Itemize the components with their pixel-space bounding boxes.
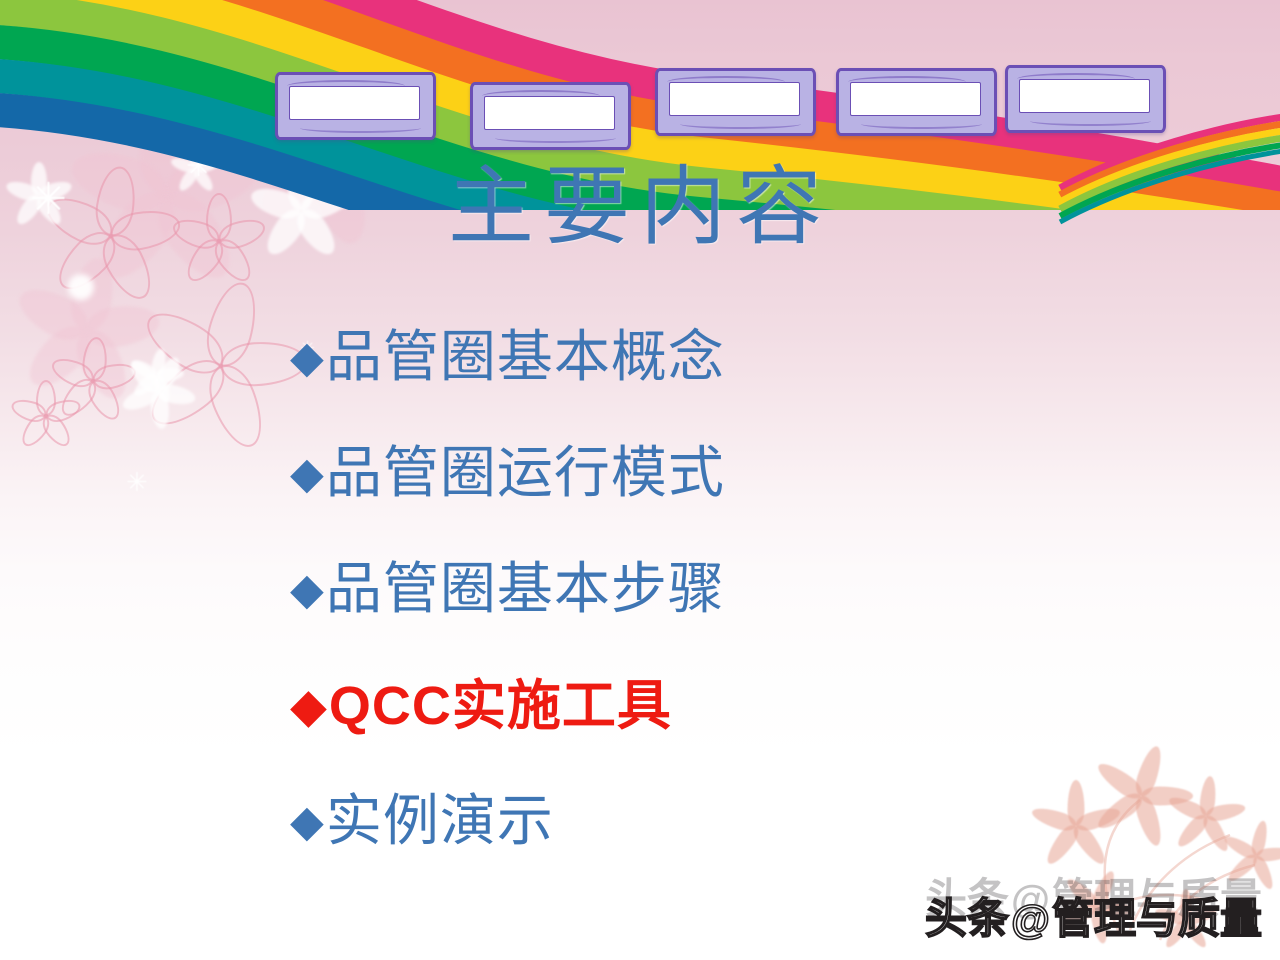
watermark: 头条 @ 管理与质量 (925, 885, 1262, 946)
plaque-3-label (669, 82, 800, 116)
list-item-highlighted[interactable]: ◆ QCC实施工具 (290, 648, 1170, 764)
diamond-bullet-icon: ◆ (290, 568, 324, 612)
plaque-1[interactable] (275, 72, 436, 140)
plaque-grain (300, 123, 421, 133)
list-item-label: QCC实施工具 (329, 678, 672, 735)
sparkle-icon: ● (66, 268, 96, 302)
diamond-bullet-icon: ◆ (290, 336, 324, 380)
plaque-grain (495, 133, 616, 143)
flower-pale-3 (85, 330, 86, 331)
diamond-bullet-icon: ◆ (290, 800, 324, 844)
flower-outline-5 (45, 415, 46, 416)
list-item-label: 品管圈基本概念 (326, 329, 725, 388)
watermark-account: 管理与质量 (1052, 885, 1262, 946)
presentation-slide: ✳ ✳ ✳ ✳ ✳ ✳ ● (0, 0, 1280, 960)
flower-white-4 (157, 390, 158, 391)
list-item-label: 品管圈基本步骤 (326, 561, 725, 620)
plaque-4[interactable] (836, 68, 997, 136)
content-list: ◆ 品管圈基本概念 ◆ 品管圈运行模式 ◆ 品管圈基本步骤 ◆ QCC实施工具 … (290, 300, 1170, 880)
plaque-1-label (289, 86, 420, 120)
plaque-5[interactable] (1005, 65, 1166, 133)
watermark-at-icon: @ (1011, 898, 1050, 943)
plaque-4-label (850, 82, 981, 116)
plaque-5-label (1019, 79, 1150, 113)
flower-salmon-4 (1255, 855, 1256, 856)
flower-salmon-3 (1205, 815, 1206, 816)
list-item[interactable]: ◆ 品管圈基本概念 (290, 300, 1170, 416)
list-item[interactable]: ◆ 实例演示 (290, 764, 1170, 880)
plaque-grain (861, 119, 982, 129)
list-item-label: 品管圈运行模式 (326, 445, 725, 504)
watermark-prefix: 头条 (925, 885, 1009, 946)
list-item[interactable]: ◆ 品管圈运行模式 (290, 416, 1170, 532)
plaque-3[interactable] (655, 68, 816, 136)
diamond-bullet-icon: ◆ (290, 452, 324, 496)
page-title: 主要内容 (0, 162, 1280, 252)
diamond-bullet-icon: ◆ (290, 682, 327, 730)
flower-white-3 (155, 375, 156, 376)
plaque-grain (680, 119, 801, 129)
flower-outline-4 (92, 380, 93, 381)
flower-outline-3 (220, 365, 221, 366)
plaque-grain (1030, 116, 1151, 126)
list-item-label: 实例演示 (326, 793, 554, 852)
list-item[interactable]: ◆ 品管圈基本步骤 (290, 532, 1170, 648)
plaque-2-label (484, 96, 615, 130)
plaque-2[interactable] (470, 82, 631, 150)
sparkle-icon: ✳ (126, 470, 148, 496)
